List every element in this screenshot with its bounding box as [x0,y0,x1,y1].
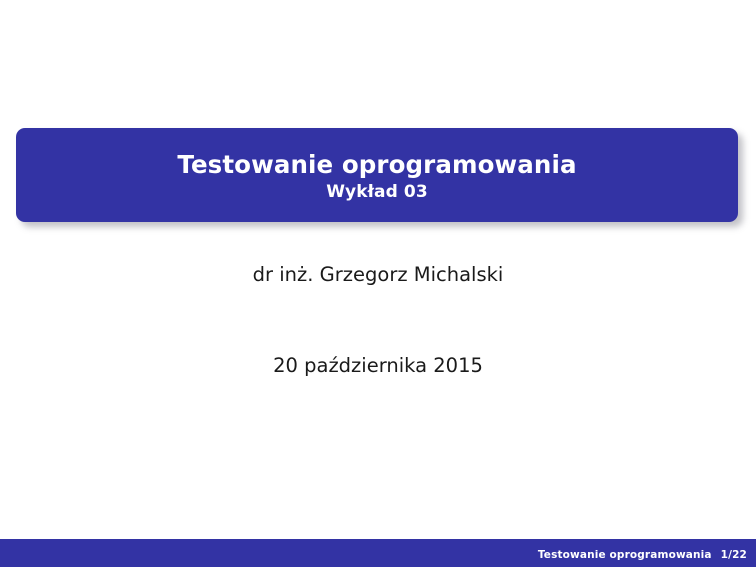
page-title: Testowanie oprogramowania [177,152,576,178]
title-block: Testowanie oprogramowania Wykład 03 [16,128,738,222]
presentation-date: 20 października 2015 [0,354,756,377]
author-name: dr inż. Grzegorz Michalski [0,263,756,286]
footer-title: Testowanie oprogramowania [538,549,712,561]
page-subtitle: Wykład 03 [326,184,428,202]
presentation-slide: Testowanie oprogramowania Wykład 03 dr i… [0,0,756,567]
footer-content: Testowanie oprogramowania 1/22 [538,545,756,561]
footer-bar: Testowanie oprogramowania 1/22 [0,539,756,567]
footer-page-number: 1/22 [721,549,747,561]
